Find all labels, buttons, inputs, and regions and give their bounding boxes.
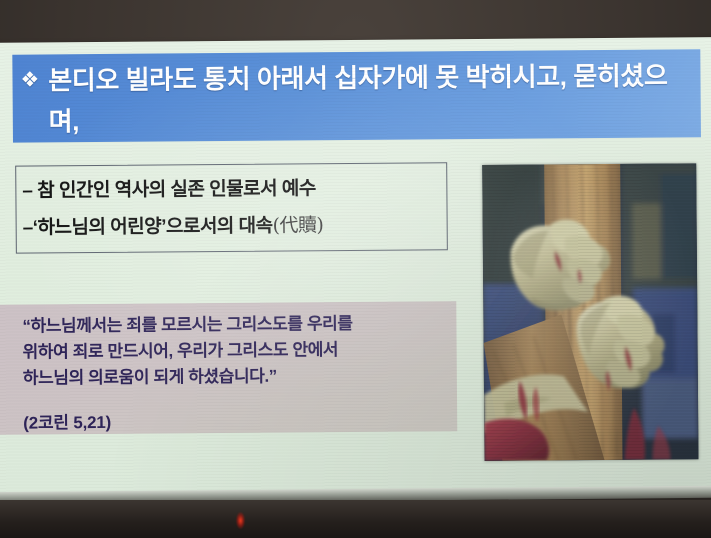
statement-hanja-2: (代贖) bbox=[273, 214, 324, 236]
statement-dash-1: – bbox=[22, 181, 32, 202]
equipment-led-indicator bbox=[236, 512, 245, 529]
quote-line-2: 위하여 죄로 만드시어, 우리가 그리스도 안에서 bbox=[23, 336, 445, 365]
statement-dash-2: – bbox=[23, 218, 33, 239]
statement-line-2: –‘하느님의 어린양’으로서의 대속(代贖) bbox=[23, 206, 447, 246]
slide-title-text: 본디오 빌라도 통치 아래서 십자가에 못 박히시고, 묻히셨으며, bbox=[48, 55, 697, 142]
scripture-quote-box: “하느님께서는 죄를 모르시는 그리스도를 우리를 위하여 죄로 만드시어, 우… bbox=[0, 301, 457, 435]
statement-text-2: ‘하느님의 어린양’으로서의 대속 bbox=[33, 216, 273, 239]
statement-box: – 참 인간인 역사의 실존 인물로서 예수 –‘하느님의 어린양’으로서의 대… bbox=[15, 162, 448, 253]
presentation-slide: ❖ 본디오 빌라도 통치 아래서 십자가에 못 박히시고, 묻히셨으며, – 참… bbox=[0, 37, 711, 501]
quote-line-1: “하느님께서는 죄를 모르시는 그리스도를 우리를 bbox=[22, 310, 444, 339]
quote-reference: (2코린 5,21) bbox=[23, 407, 445, 436]
diamond-bullet-icon: ❖ bbox=[20, 60, 39, 100]
projection-screen: ❖ 본디오 빌라도 통치 아래서 십자가에 못 박히시고, 묻히셨으며, – 참… bbox=[0, 37, 711, 501]
slide-title-banner: ❖ 본디오 빌라도 통치 아래서 십자가에 못 박히시고, 묻히셨으며, bbox=[12, 49, 701, 142]
wall-below-screen bbox=[0, 500, 711, 538]
statement-line-1: – 참 인간인 역사의 실존 인물로서 예수 bbox=[22, 169, 446, 209]
painting-artwork bbox=[482, 163, 698, 461]
statement-text-1: 참 인간인 역사의 실존 인물로서 예수 bbox=[37, 178, 316, 201]
quote-line-3: 하느님의 의로움이 되게 하셨습니다.” bbox=[23, 362, 445, 391]
painting-hands-gripping-cross bbox=[482, 163, 698, 461]
